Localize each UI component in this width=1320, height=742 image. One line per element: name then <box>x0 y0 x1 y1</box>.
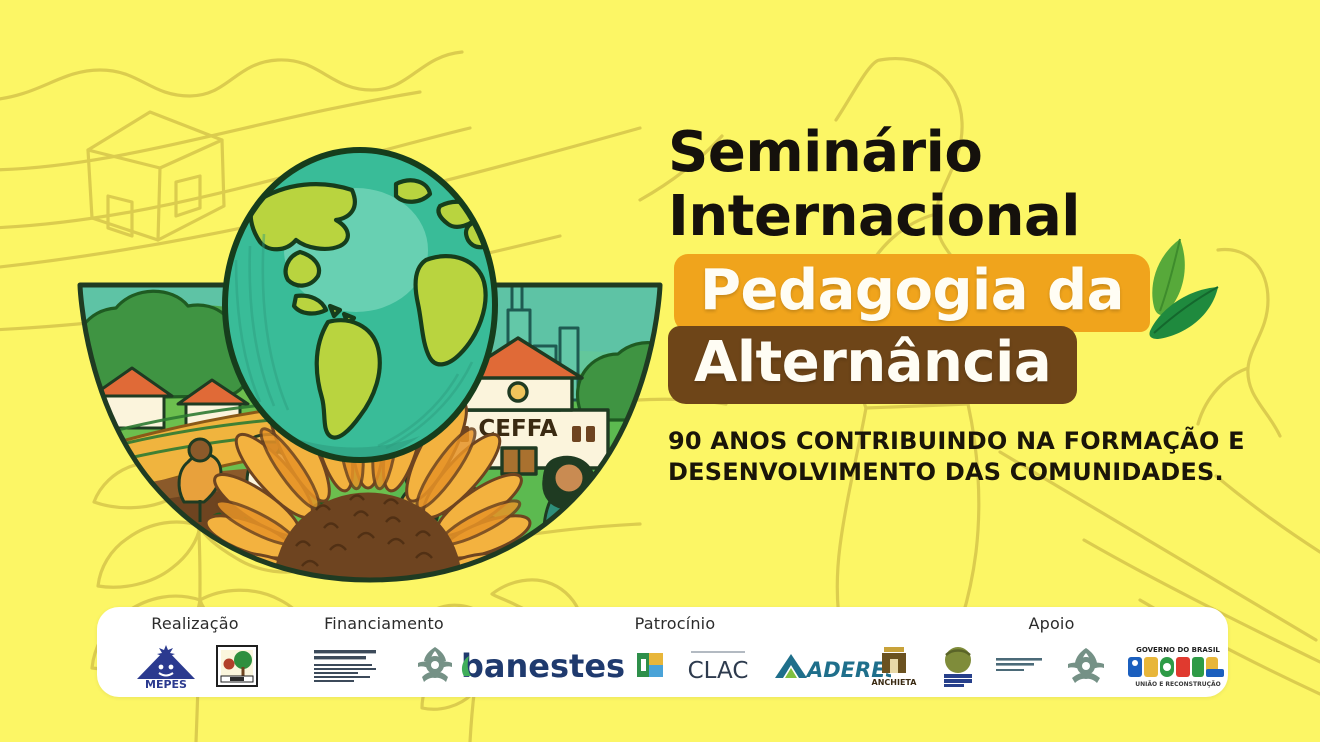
subtitle-line-2: DESENVOLVIMENTO DAS COMUNIDADES. <box>668 457 1268 488</box>
sponsor-logos: MEPES <box>129 635 261 697</box>
prefeitura-logo[interactable] <box>932 643 984 689</box>
brasao-logo[interactable] <box>1064 644 1108 688</box>
governo-espirito-santo-logo[interactable] <box>312 643 404 689</box>
banestes-logo[interactable]: banestes <box>459 646 625 686</box>
banner-pedagogia: Pedagogia da <box>674 254 1150 332</box>
sponsor-logos <box>312 635 456 697</box>
subtitle-block: 90 ANOS CONTRIBUINDO NA FORMAÇÃO E DESEN… <box>668 426 1268 488</box>
headline-line-1: Seminário <box>668 122 1268 184</box>
ceffa-illustration: CEFFA <box>60 110 680 590</box>
sponsor-group-financiamento: Financiamento <box>293 607 475 697</box>
esfa-logo[interactable] <box>213 642 261 690</box>
subtitle-line-1: 90 ANOS CONTRIBUINDO NA FORMAÇÃO E <box>668 426 1268 457</box>
banner-alternancia: Alternância <box>668 326 1077 404</box>
leaves-decoration <box>1140 225 1250 355</box>
sponsor-group-realizacao: Realização MEPES <box>97 607 293 697</box>
sponsor-group-apoio: Apoio ANCHIETA <box>875 607 1228 697</box>
clac-logo-text: CLAC <box>688 658 749 684</box>
sponsor-logos: ANCHIETA <box>866 635 1238 697</box>
sponsor-bar: Realização MEPES <box>97 607 1228 697</box>
clac-logo[interactable]: CLAC <box>675 646 761 686</box>
sponsor-logos: banestes CLAC <box>459 635 891 697</box>
sponsor-group-title: Apoio <box>1028 614 1074 633</box>
anchieta-logo[interactable]: ANCHIETA <box>866 643 922 689</box>
governo-do-brasil-sub-text: UNIÃO E RECONSTRUÇÃO <box>1135 681 1220 688</box>
clac-mark-icon[interactable] <box>635 649 665 683</box>
mepes-logo[interactable]: MEPES <box>129 643 203 689</box>
brasao-espirito-santo-icon[interactable] <box>414 643 456 689</box>
sponsor-group-title: Realização <box>151 614 239 633</box>
poster-canvas: CEFFA <box>0 0 1320 742</box>
sponsor-group-title: Patrocínio <box>635 614 716 633</box>
sponsor-group-title: Financiamento <box>324 614 444 633</box>
anchieta-logo-text: ANCHIETA <box>871 678 917 687</box>
governo-do-brasil-logo[interactable]: GOVERNO DO BRASIL UNIÃO E R <box>1118 643 1238 689</box>
sponsor-group-patrocinio: Patrocínio banestes CLAC <box>475 607 875 697</box>
secretaria-logo[interactable] <box>994 646 1054 686</box>
governo-do-brasil-top-text: GOVERNO DO BRASIL <box>1136 646 1220 654</box>
mepes-logo-text: MEPES <box>145 678 187 689</box>
banestes-logo-text: banestes <box>461 647 625 685</box>
